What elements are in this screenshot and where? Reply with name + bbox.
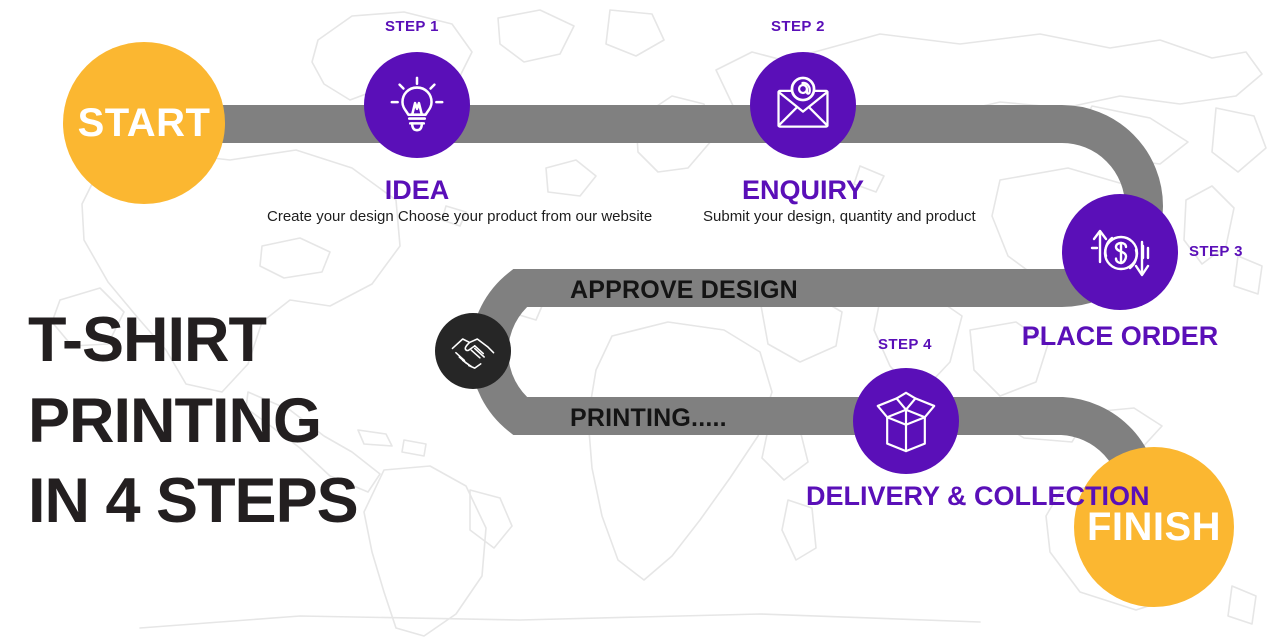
step-3-step-label: STEP 3 xyxy=(1189,243,1243,260)
step-1-title: IDEA xyxy=(317,176,517,204)
step-1-step-label: STEP 1 xyxy=(385,18,439,35)
step-2-description: Submit your design, quantity and product xyxy=(703,208,903,227)
step-2-step-label: STEP 2 xyxy=(771,18,825,35)
label-layer: T-SHIRT PRINTING IN 4 STEPS STEP 1 IDEA … xyxy=(0,0,1280,640)
page-title: T-SHIRT PRINTING IN 4 STEPS xyxy=(28,300,358,542)
step-4-step-label: STEP 4 xyxy=(878,336,932,353)
infographic-canvas: APPROVE DESIGN PRINTING..... START xyxy=(0,0,1280,640)
step-4-title: DELIVERY & COLLECTION xyxy=(806,482,1006,510)
step-2-title: ENQUIRY xyxy=(703,176,903,204)
step-3-title: PLACE ORDER xyxy=(1020,322,1220,350)
step-1-description: Create your design Choose your product f… xyxy=(267,208,567,227)
